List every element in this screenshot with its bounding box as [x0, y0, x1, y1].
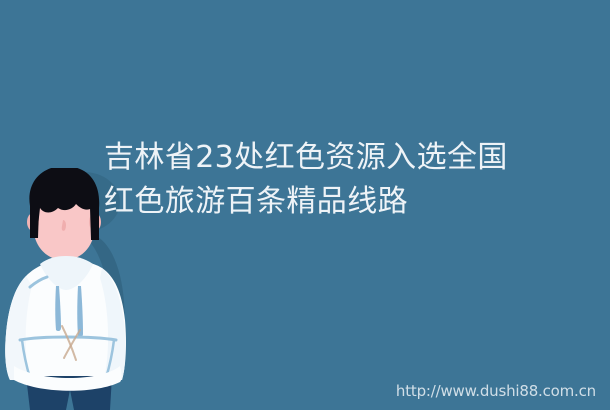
hoodie	[5, 256, 126, 380]
page-title: 吉林省23处红色资源入选全国红色旅游百条精品线路	[104, 136, 524, 224]
article-banner: 吉林省23处红色资源入选全国红色旅游百条精品线路 http://www.dush…	[0, 0, 610, 410]
watermark-url: http://www.dushi88.com.cn	[396, 382, 596, 400]
